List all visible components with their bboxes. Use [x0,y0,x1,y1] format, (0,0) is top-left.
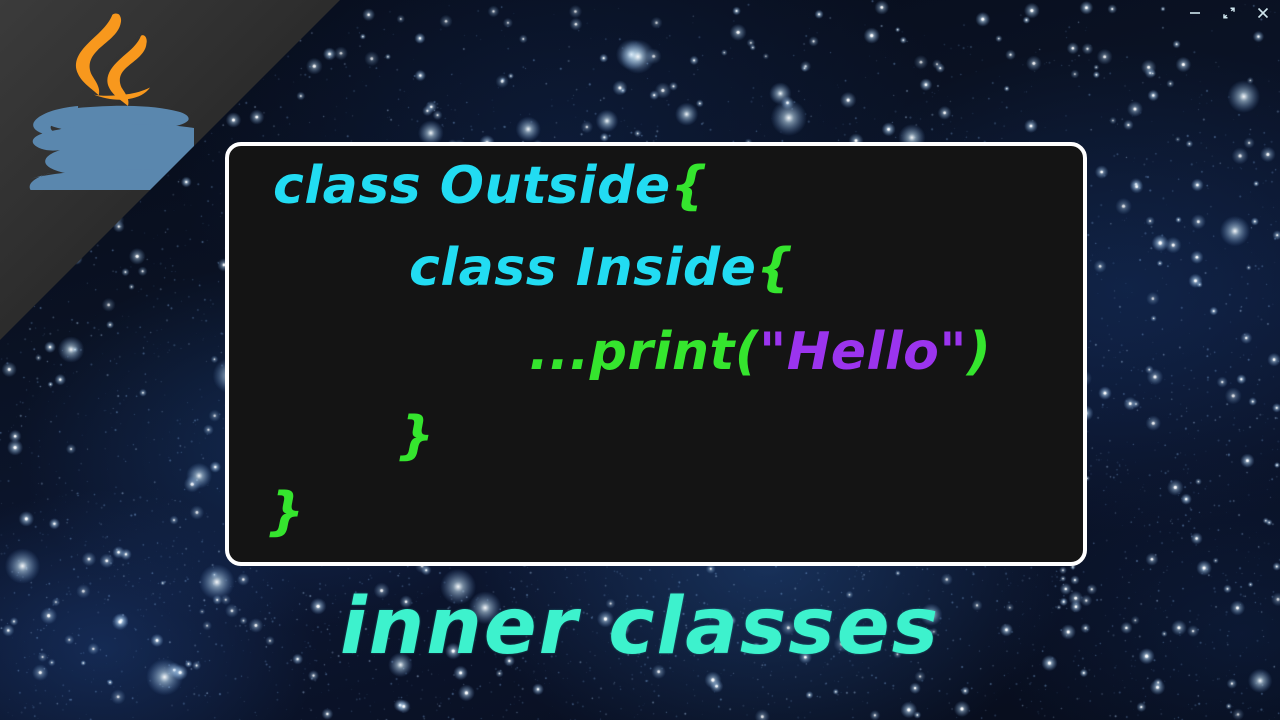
code-token: { [756,238,794,298]
code-snippet-card: class Outside{class Inside{...print("Hel… [225,142,1087,566]
minimize-icon [1188,6,1202,20]
code-token: { [671,156,709,216]
code-line: } [267,486,305,538]
code-token: ...print( [529,322,759,382]
close-icon [1256,6,1270,20]
close-button[interactable] [1246,0,1280,26]
restore-icon [1222,6,1236,20]
screen-root: class Outside{class Inside{...print("Hel… [0,0,1280,720]
code-token: ) [967,322,991,382]
java-logo [22,12,194,190]
page-title: inner classes [0,588,1280,666]
minimize-button[interactable] [1178,0,1212,26]
code-token: "Hello" [759,322,967,382]
code-token: class Outside [273,156,671,216]
restore-button[interactable] [1212,0,1246,26]
code-line: class Inside{ [409,242,794,294]
code-token: } [267,482,305,542]
code-line: ...print("Hello") [529,326,991,378]
window-controls [1178,0,1280,26]
code-lines: class Outside{class Inside{...print("Hel… [229,146,1083,562]
code-token: class Inside [409,238,756,298]
code-line: } [397,410,435,462]
code-token: } [397,406,435,466]
code-line: class Outside{ [273,160,708,212]
